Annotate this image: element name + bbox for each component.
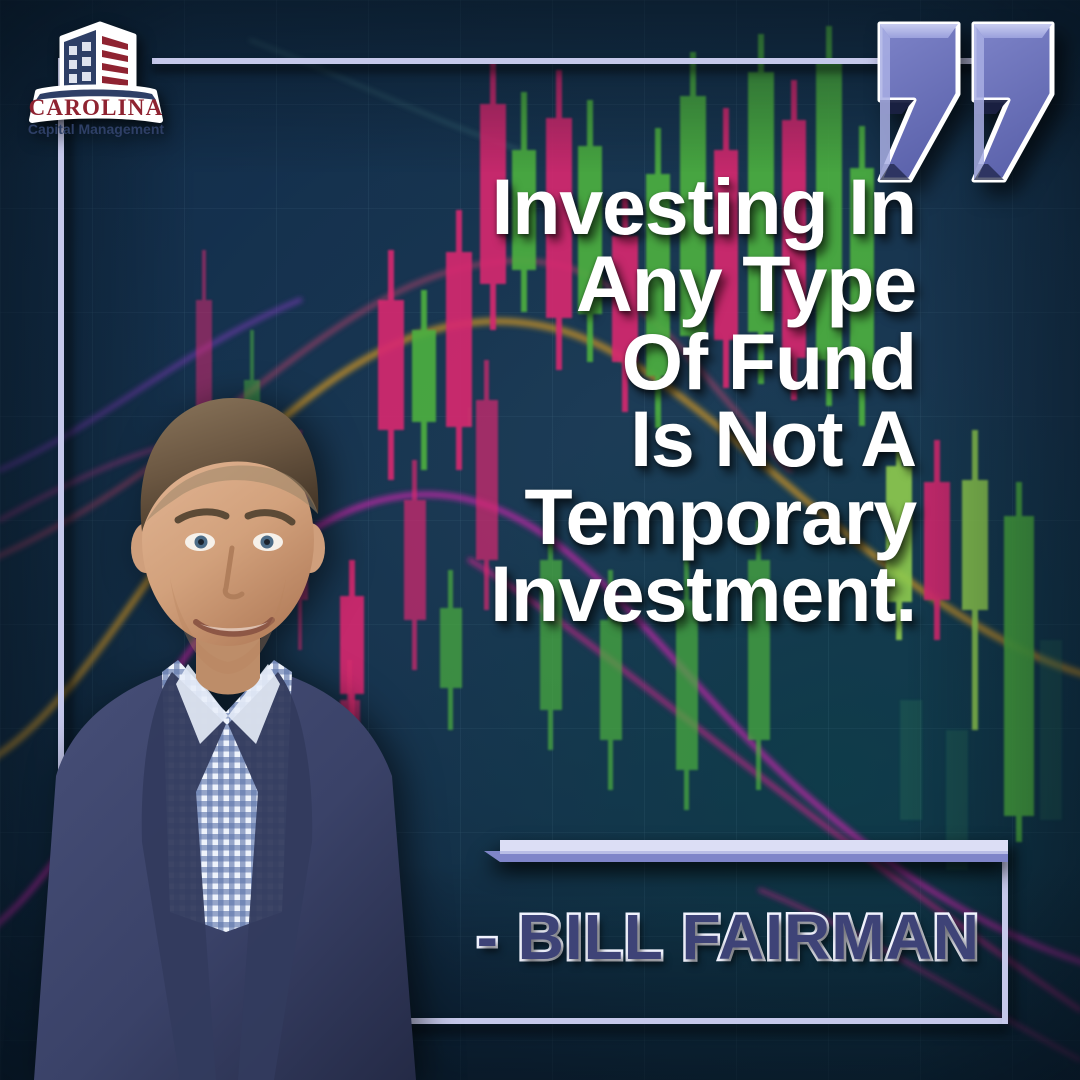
logo-name-line2: Capital Management [28,121,164,137]
quote-text: Investing In Any Type Of Fund Is Not A T… [330,168,916,632]
frame-right-line [1002,846,1008,1024]
accent-bar-icon [484,840,1008,862]
quote-graphic-canvas: Investing In Any Type Of Fund Is Not A T… [0,0,1080,1080]
accent-bar-shape [484,840,1008,862]
logo-name-line1: CAROLINA [29,95,164,120]
building-icon: CAROLINA Capital Management [22,16,170,144]
author-attribution: - BILL FAIRMAN [300,900,980,974]
frame-top-line [152,58,988,64]
carolina-capital-management-logo[interactable]: CAROLINA Capital Management [22,16,170,144]
